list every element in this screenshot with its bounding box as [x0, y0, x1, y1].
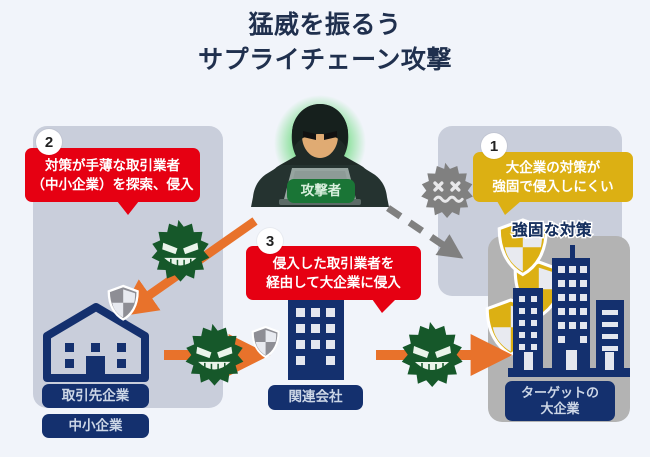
label-attacker: 攻撃者 — [287, 179, 355, 203]
virus-dead-face-icon — [421, 163, 473, 218]
callout-3: 侵入した取引業者を 経由して大企業に侵入 — [246, 246, 421, 300]
strong-measures-label: 強固な対策 — [512, 218, 592, 240]
callout-2-tail — [117, 201, 139, 215]
callout-2-number: 2 — [36, 129, 62, 155]
label-sme: 中小企業 — [42, 414, 149, 438]
callout-3-tail — [372, 299, 396, 313]
callout-2: 対策が手薄な取引業者 （中小企業）を探索、侵入 — [25, 148, 200, 202]
building-outline-icon — [47, 307, 145, 378]
building-solid-icon — [288, 300, 344, 380]
infographic-canvas: 猛威を振るう サプライチェーン攻撃 — [0, 0, 650, 457]
callout-3-text: 侵入した取引業者を 経由して大企業に侵入 — [260, 254, 407, 292]
virus-evil-face-icon-left — [152, 220, 210, 282]
callout-1: 大企業の対策が 強固で侵入しにくい — [473, 152, 633, 202]
callout-1-text: 大企業の対策が 強固で侵入しにくい — [486, 158, 619, 196]
callout-1-number: 1 — [481, 133, 507, 159]
label-target-enterprise: ターゲットの 大企業 — [505, 381, 615, 421]
label-affiliate-company: 関連会社 — [268, 385, 363, 410]
callout-1-tail — [497, 201, 521, 215]
virus-evil-face-icon-middle — [186, 324, 244, 386]
label-partner-company: 取引先企業 — [42, 384, 149, 408]
callout-2-text: 対策が手薄な取引業者 （中小企業）を探索、侵入 — [26, 156, 200, 194]
virus-evil-face-icon-right — [402, 322, 463, 387]
callout-3-number: 3 — [257, 228, 283, 254]
